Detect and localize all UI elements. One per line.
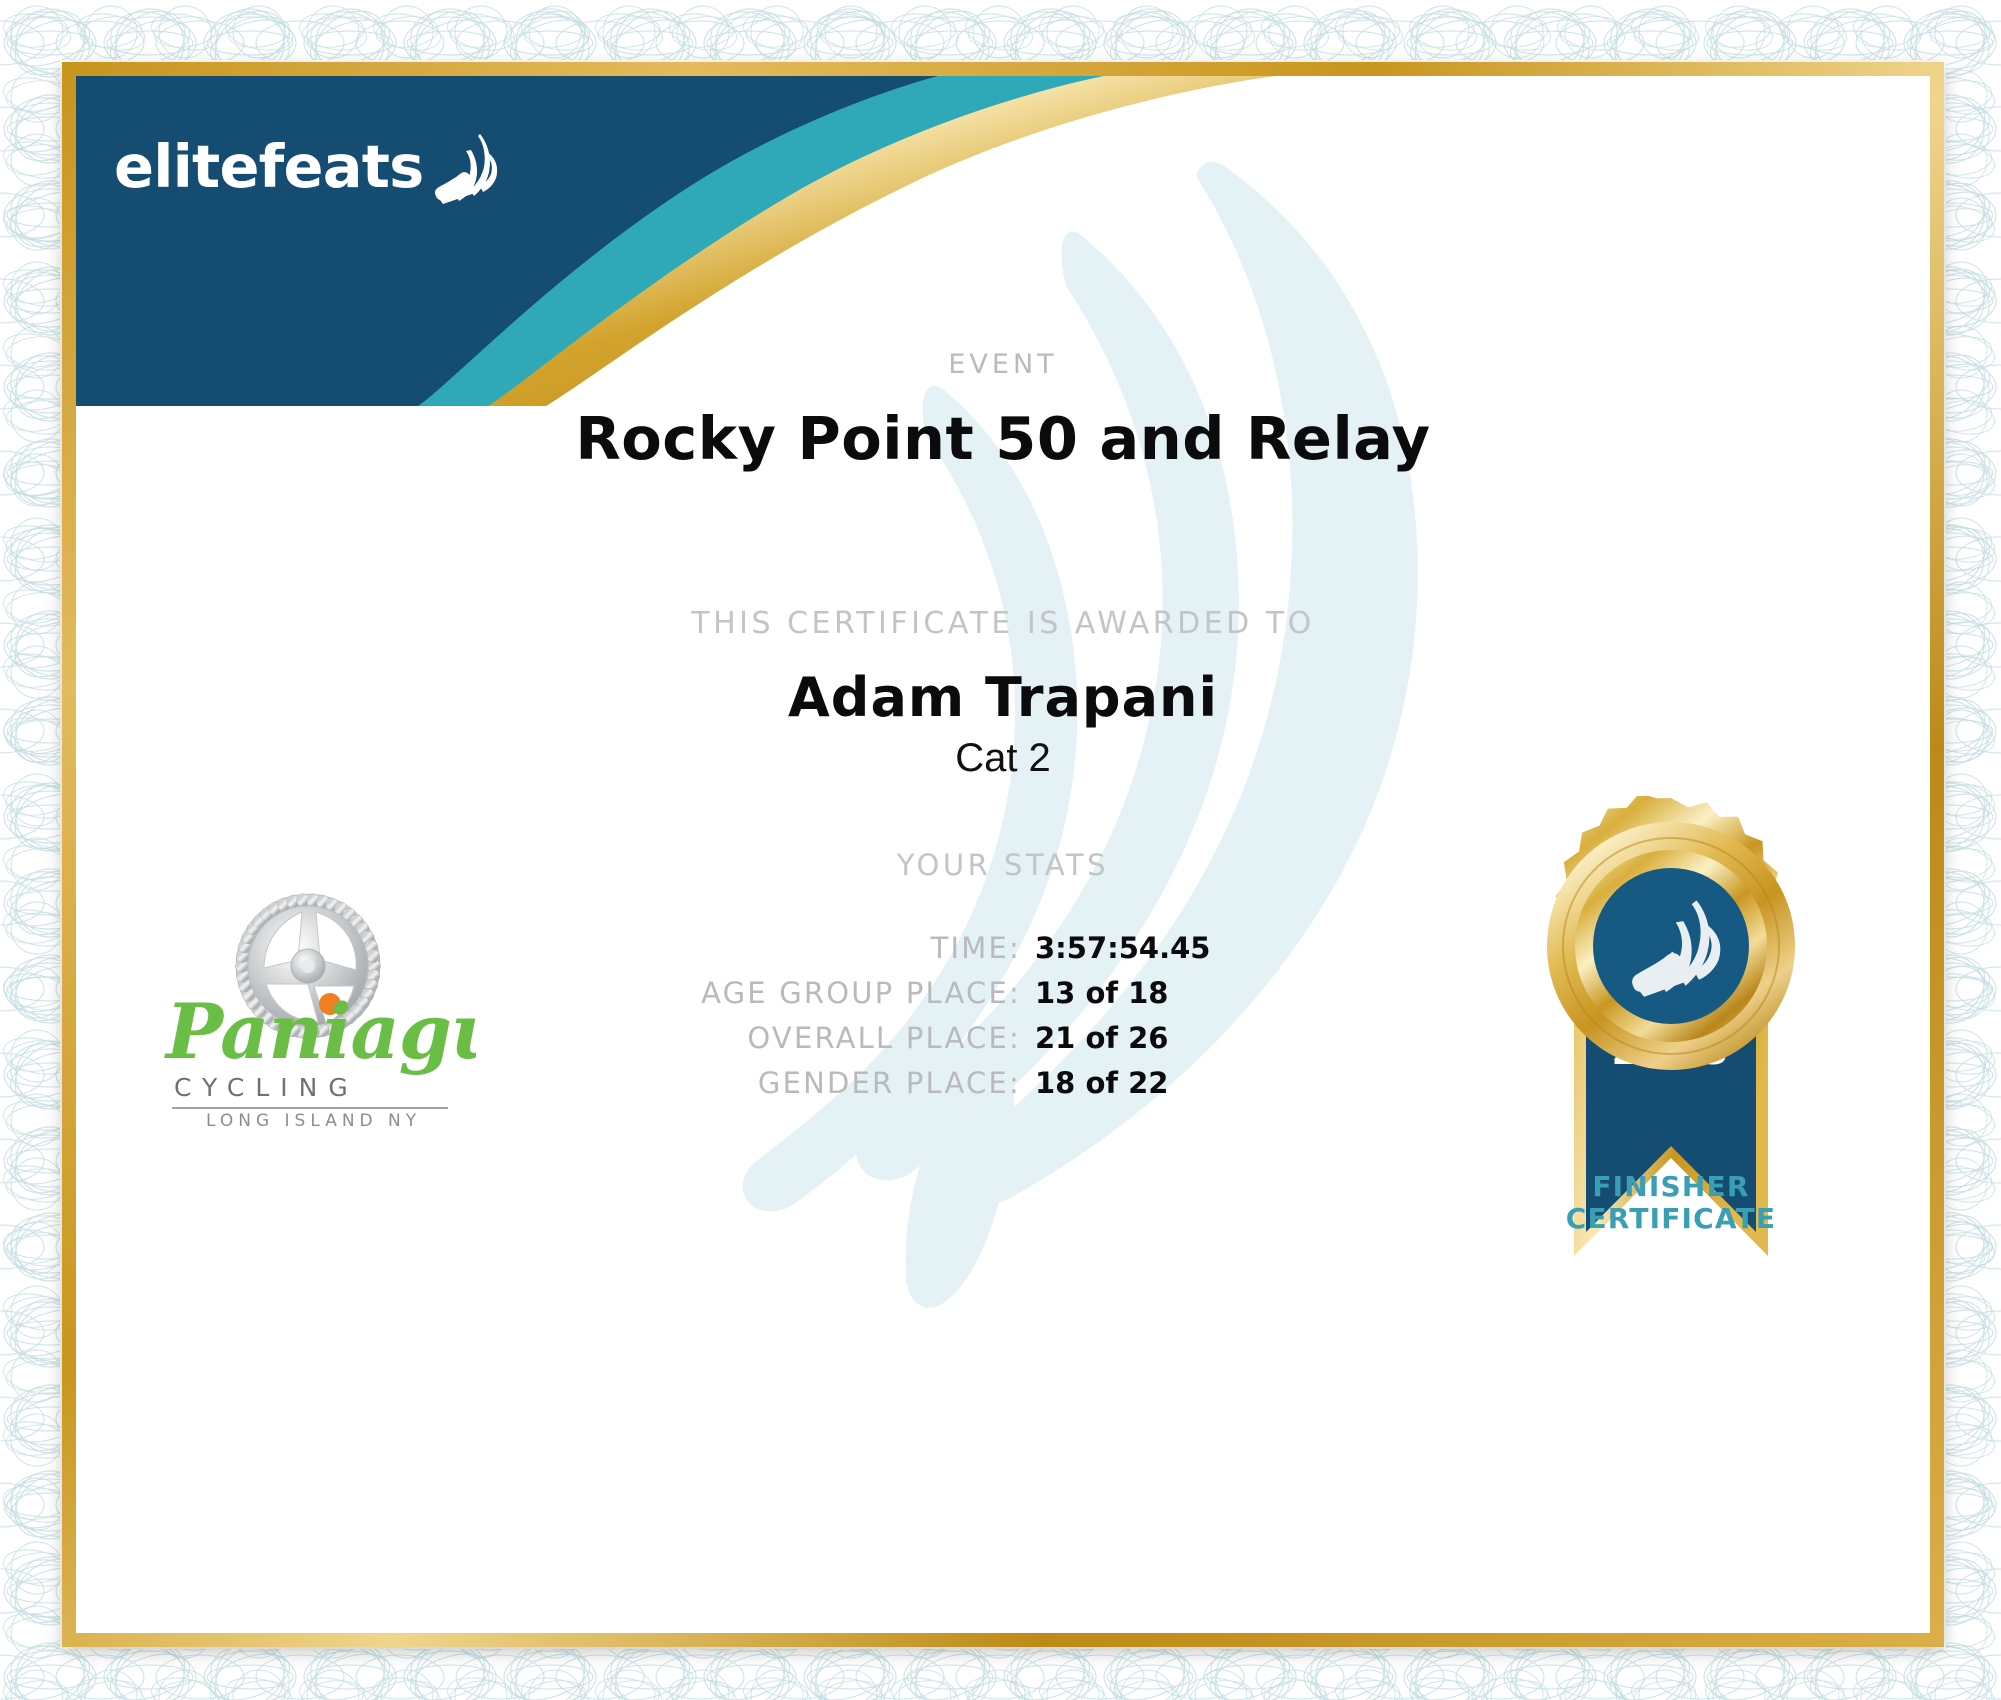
stat-label: AGE GROUP PLACE: xyxy=(701,976,1021,1010)
awarded-to-label: THIS CERTIFICATE IS AWARDED TO xyxy=(76,606,1930,641)
recipient-name: Adam Trapani xyxy=(76,666,1930,729)
svg-text:Paniagua: Paniagua xyxy=(164,987,476,1076)
stat-value: 3:57:54.45 xyxy=(1021,931,1241,965)
stat-label: GENDER PLACE: xyxy=(758,1066,1021,1100)
medal-disc xyxy=(1547,796,1795,1070)
certificate: elitefeats EVENT Rocky Point 50 and Rela… xyxy=(0,0,2001,1700)
sponsor-logo-paniagua-cycling: Paniagua CYCLING LONG ISLAND NY xyxy=(146,876,476,1126)
event-title: Rocky Point 50 and Relay xyxy=(76,404,1930,473)
recipient-category: Cat 2 xyxy=(76,736,1930,781)
certificate-content: EVENT Rocky Point 50 and Relay THIS CERT… xyxy=(76,76,1930,1633)
brand-wordmark: elitefeats xyxy=(114,137,424,196)
svg-text:LONG ISLAND NY: LONG ISLAND NY xyxy=(206,1111,421,1126)
svg-text:CYCLING: CYCLING xyxy=(174,1073,359,1102)
stat-label: OVERALL PLACE: xyxy=(747,1021,1021,1055)
stat-value: 13 of 18 xyxy=(1021,976,1241,1010)
stat-label: TIME: xyxy=(931,931,1021,965)
winged-foot-icon xyxy=(430,132,500,204)
stat-value: 18 of 22 xyxy=(1021,1066,1241,1100)
finisher-caption-line1: FINISHER xyxy=(1506,1171,1836,1203)
stat-value: 21 of 26 xyxy=(1021,1021,1241,1055)
event-label: EVENT xyxy=(76,349,1930,380)
finisher-caption: FINISHER CERTIFICATE xyxy=(1506,1171,1836,1236)
brand-logo: elitefeats xyxy=(114,128,500,204)
finisher-caption-line2: CERTIFICATE xyxy=(1506,1203,1836,1235)
certificate-frame: elitefeats EVENT Rocky Point 50 and Rela… xyxy=(62,62,1944,1647)
